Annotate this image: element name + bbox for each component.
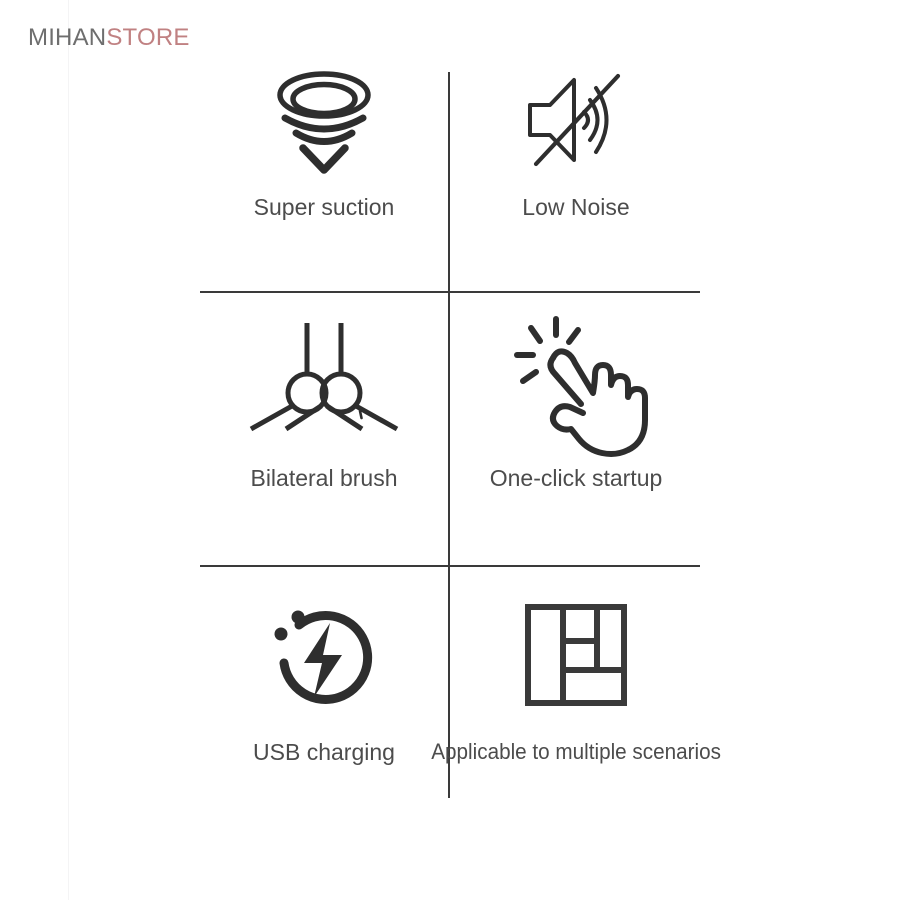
feature-cell-bilateral-brush: Bilateral brush (200, 301, 448, 565)
feature-label-super-suction: Super suction (254, 194, 395, 222)
brand-logo-primary: MIHAN (28, 24, 106, 51)
click-hand-icon (509, 301, 643, 451)
feature-cell-low-noise: Low Noise (452, 60, 700, 291)
tornado-suction-icon (265, 60, 383, 180)
feature-cell-super-suction: Super suction (200, 60, 448, 291)
feature-cell-one-click-startup: One-click startup (452, 301, 700, 565)
grid-divider-horizontal-2 (200, 565, 700, 567)
feature-label-bilateral-brush: Bilateral brush (250, 465, 397, 493)
feature-label-one-click-startup: One-click startup (490, 465, 663, 493)
feature-label-low-noise: Low Noise (522, 194, 629, 222)
photo-edge-seam (68, 0, 69, 900)
dual-brush-icon (245, 301, 403, 451)
grid-divider-horizontal-1 (200, 291, 700, 293)
layout-grid-icon (525, 585, 627, 725)
feature-cell-usb-charging: USB charging (200, 585, 448, 812)
feature-label-multiple-scenarios: Applicable to multiple scenarios (431, 739, 721, 765)
feature-cell-multiple-scenarios: Applicable to multiple scenarios (452, 585, 700, 812)
charging-bolt-icon (268, 585, 380, 725)
muted-speaker-icon (520, 60, 632, 180)
brand-logo: MIHANSTORE (28, 26, 190, 50)
feature-label-usb-charging: USB charging (253, 739, 395, 767)
grid-divider-vertical (448, 72, 450, 798)
feature-grid: Super suction Low Noise (200, 52, 700, 812)
brand-logo-accent: STORE (106, 24, 189, 51)
